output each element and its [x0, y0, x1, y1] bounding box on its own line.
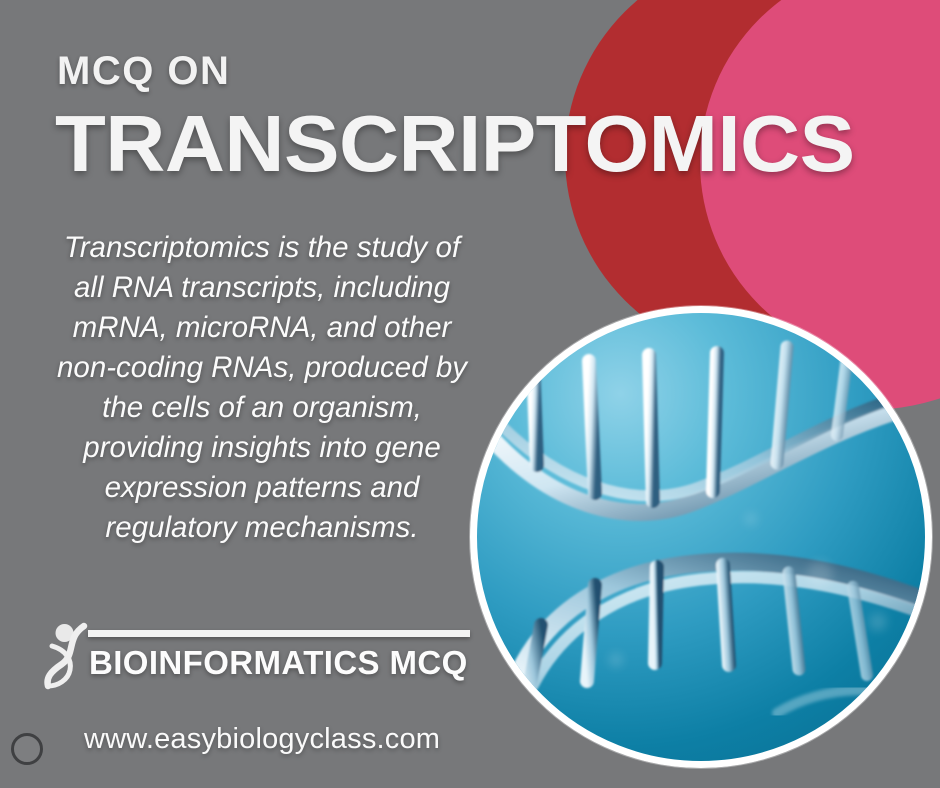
bokeh-highlight	[745, 513, 757, 525]
description-text: Transcriptomics is the study of all RNA …	[46, 228, 478, 548]
brand-divider-rule	[88, 630, 470, 637]
brand-footer: BIOINFORMATICS MCQ	[40, 618, 480, 694]
poster-canvas: MCQ ON TRANSCRIPTOMICS Transcriptomics i…	[0, 0, 940, 788]
page-title: TRANSCRIPTOMICS	[55, 103, 855, 185]
dna-double-helix-photo	[470, 306, 932, 768]
bokeh-highlight	[807, 561, 833, 587]
dna-helix-illustration-icon	[477, 313, 932, 768]
bokeh-highlight	[869, 613, 887, 631]
page-kicker: MCQ ON	[57, 51, 230, 91]
corner-circle-decoration	[11, 733, 43, 765]
dna-photo-inner	[477, 313, 925, 761]
website-url: www.easybiologyclass.com	[84, 723, 440, 756]
brand-name: BIOINFORMATICS MCQ	[89, 644, 468, 682]
bokeh-highlight	[609, 653, 623, 667]
